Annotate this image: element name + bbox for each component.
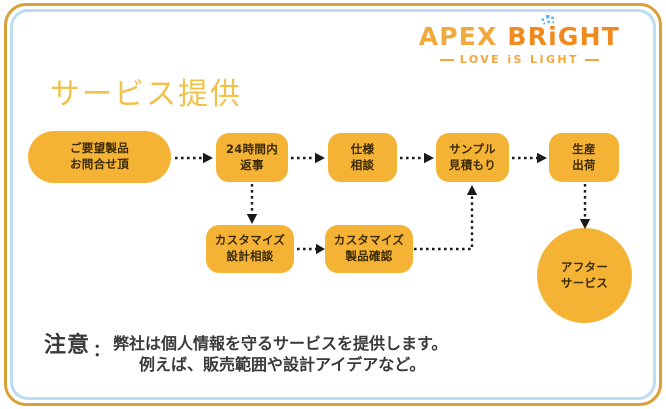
slide-canvas: APEX BRiGHT LOVE iS LIGHT サービス提供 ご要望製品 お… bbox=[0, 0, 666, 409]
flow-node-spec-consult-line2: 相談 bbox=[351, 158, 375, 174]
tagline-dash-right bbox=[585, 59, 599, 61]
connector-custom-confirm-to-sample bbox=[414, 182, 486, 254]
brand-tagline: LOVE iS LIGHT bbox=[460, 54, 579, 65]
flow-node-production-ship-line2: 出荷 bbox=[572, 158, 596, 174]
footer-note-colon: ： bbox=[93, 336, 110, 361]
footer-note-body: 弊社は個人情報を守るサービスを提供します。 例えば、販売範囲や設計アイデアなど。 bbox=[113, 333, 447, 375]
brand-tagline-row: LOVE iS LIGHT bbox=[419, 54, 620, 65]
flow-node-after-service: アフター サービス bbox=[537, 228, 632, 323]
footer-note-label: 注意 bbox=[44, 333, 90, 360]
flow-node-spec-consult: 仕様 相談 bbox=[328, 133, 397, 182]
brand-logo: APEX BRiGHT LOVE iS LIGHT bbox=[419, 24, 620, 65]
sparkle-icon bbox=[539, 15, 557, 26]
footer-note-line1: 弊社は個人情報を守るサービスを提供します。 bbox=[113, 334, 447, 353]
flow-node-inquiry-line1: ご要望製品 bbox=[70, 141, 129, 157]
footer-note: 注意 ： 弊社は個人情報を守るサービスを提供します。 例えば、販売範囲や設計アイ… bbox=[44, 333, 447, 375]
brand-name-bright: BRiGHT bbox=[507, 22, 620, 51]
flow-node-inquiry: ご要望製品 お問合せ頂 bbox=[28, 131, 171, 183]
flow-node-after-service-line2: サービス bbox=[561, 276, 608, 292]
connector-reply-to-spec bbox=[291, 150, 327, 166]
flow-node-custom-design: カスタマイズ 設計相談 bbox=[206, 225, 294, 273]
brand-name: APEX BRiGHT bbox=[419, 24, 620, 49]
flow-node-custom-confirm: カスタマイズ 製品確認 bbox=[325, 225, 413, 273]
flow-node-custom-confirm-line1: カスタマイズ bbox=[334, 233, 404, 249]
flow-node-custom-design-line1: カスタマイズ bbox=[215, 233, 285, 249]
connector-spec-to-sample bbox=[400, 150, 436, 166]
flow-node-sample-quote-line2: 見積もり bbox=[449, 158, 496, 174]
flow-node-spec-consult-line1: 仕様 bbox=[351, 142, 375, 158]
flow-node-sample-quote-line1: サンプル bbox=[449, 142, 496, 158]
connector-custom-design-to-confirm bbox=[297, 241, 327, 257]
brand-name-apex: APEX bbox=[419, 22, 498, 51]
flow-node-custom-confirm-line2: 製品確認 bbox=[345, 249, 392, 265]
page-title: サービス提供 bbox=[50, 69, 242, 113]
flow-node-reply-24h-line2: 返事 bbox=[240, 158, 264, 174]
connector-reply-to-custom-design bbox=[244, 184, 260, 226]
footer-note-line2: 例えば、販売範囲や設計アイデアなど。 bbox=[113, 354, 447, 375]
flow-node-reply-24h-line1: 24時間内 bbox=[226, 142, 278, 158]
flow-node-inquiry-line2: お問合せ頂 bbox=[70, 157, 129, 173]
flow-node-sample-quote: サンプル 見積もり bbox=[436, 133, 509, 182]
flow-node-after-service-line1: アフター bbox=[561, 260, 608, 276]
flow-node-production-ship-line1: 生産 bbox=[572, 142, 596, 158]
tagline-dash-left bbox=[440, 59, 454, 61]
flow-node-custom-design-line2: 設計相談 bbox=[226, 249, 273, 265]
connector-sample-to-production bbox=[512, 150, 549, 166]
connector-inquiry-to-reply bbox=[175, 150, 215, 166]
connector-production-to-after-service bbox=[577, 184, 593, 232]
flow-node-reply-24h: 24時間内 返事 bbox=[216, 133, 288, 182]
flow-node-production-ship: 生産 出荷 bbox=[549, 133, 619, 182]
